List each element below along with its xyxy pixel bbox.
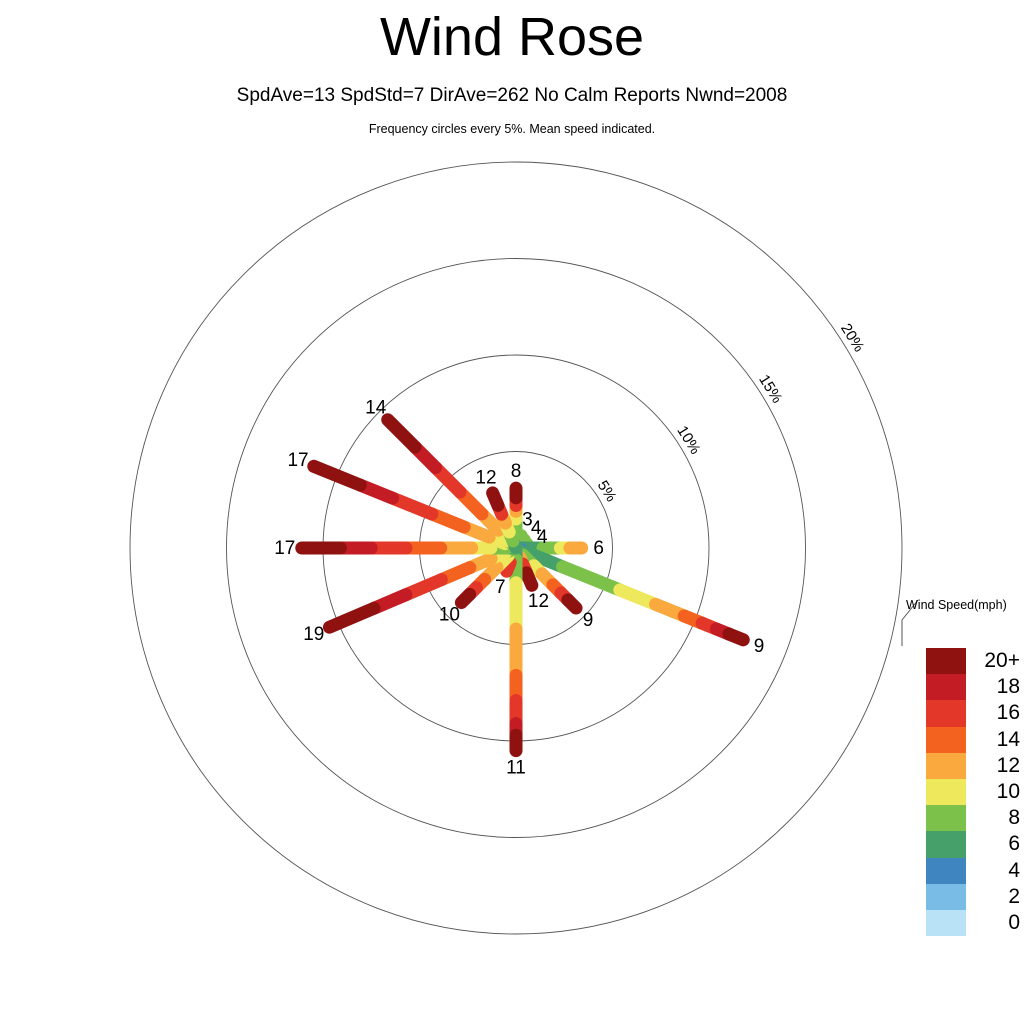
petal-segment: [314, 466, 361, 485]
legend-label: 4: [980, 858, 1020, 884]
petal-segment: [461, 594, 469, 602]
legend-color-swatch: [926, 779, 966, 805]
petal-mean-speed-label: 14: [365, 398, 387, 419]
petal-mean-speed-label: 12: [475, 467, 496, 488]
petal-mean-speed-label: 4: [537, 527, 548, 548]
legend-row: 18: [926, 674, 1020, 700]
legend-row: 0: [926, 910, 1020, 936]
legend-label: 14: [980, 727, 1020, 753]
legend-row: 6: [926, 831, 1020, 857]
legend-color-swatch: [926, 910, 966, 936]
legend-label: 12: [980, 753, 1020, 779]
petal-mean-speed-label: 19: [303, 624, 324, 645]
petal-mean-speed-label: 7: [495, 577, 506, 598]
legend-color-swatch: [926, 858, 966, 884]
petal-mean-speed-label: 12: [528, 591, 549, 612]
petal-segment: [388, 420, 415, 447]
legend-row: 10: [926, 779, 1020, 805]
legend-row: 14: [926, 727, 1020, 753]
legend-color-swatch: [926, 648, 966, 674]
legend-label: 8: [980, 805, 1020, 831]
petal-segment: [563, 567, 620, 590]
petal-mean-speed-label: 9: [754, 636, 765, 657]
ring-percent-label: 20%: [837, 321, 867, 355]
petal-mean-speed-label: 17: [287, 450, 308, 471]
legend-row: 12: [926, 753, 1020, 779]
petal-segment: [729, 634, 743, 640]
petal-mean-speed-label: 11: [506, 758, 526, 779]
petal-mean-speed-label: 10: [439, 605, 460, 626]
legend-title: Wind Speed(mph): [906, 598, 1007, 612]
petal-mean-speed-label: 8: [511, 461, 522, 482]
legend-color-swatch: [926, 805, 966, 831]
ring-percent-label: 5%: [594, 478, 620, 505]
petal-segment: [493, 493, 498, 505]
legend-label: 6: [980, 831, 1020, 857]
wind-petals: [302, 420, 743, 751]
petal-mean-speed-label: 17: [274, 538, 295, 559]
legend-row: 20+: [926, 648, 1020, 674]
petal-mean-speed-label: 6: [593, 538, 604, 559]
ring-percent-labels: 5%10%15%20%: [594, 321, 868, 505]
legend-color-swatch: [926, 674, 966, 700]
legend-row: 2: [926, 884, 1020, 910]
ring-percent-label: 15%: [755, 372, 785, 406]
legend-row: 4: [926, 858, 1020, 884]
petal-segment: [329, 608, 373, 627]
legend-swatch-list: 20+181614121086420: [926, 648, 1020, 936]
petal-segment: [527, 573, 532, 585]
legend-color-swatch: [926, 753, 966, 779]
legend-color-swatch: [926, 831, 966, 857]
legend-color-swatch: [926, 884, 966, 910]
legend-color-swatch: [926, 700, 966, 726]
legend-label: 10: [980, 779, 1020, 805]
legend-row: 16: [926, 700, 1020, 726]
legend-color-swatch: [926, 727, 966, 753]
ring-percent-label: 10%: [673, 423, 703, 457]
legend-label: 20+: [980, 648, 1020, 674]
legend-label: 0: [980, 910, 1020, 936]
wind-rose-plot: 834469912117101917171412 5%10%15%20%: [0, 0, 1024, 1024]
petal-segment: [568, 600, 576, 608]
legend-label: 16: [980, 700, 1020, 726]
petal-mean-speed-label: 9: [583, 610, 594, 631]
legend-row: 8: [926, 805, 1020, 831]
legend-label: 18: [980, 674, 1020, 700]
legend-label: 2: [980, 884, 1020, 910]
